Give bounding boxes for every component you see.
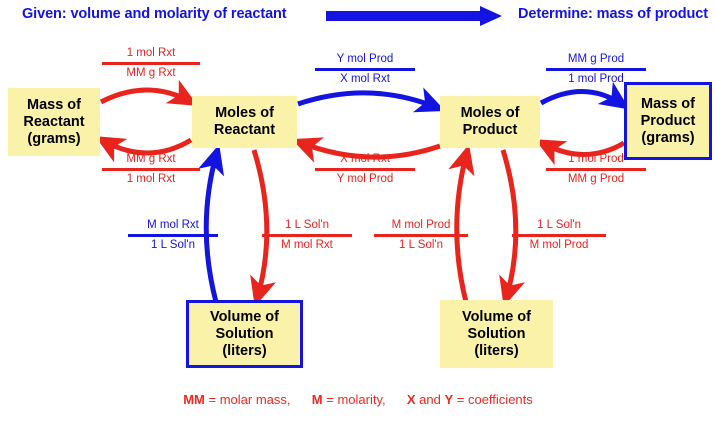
fraction-mass-to-moles-reactant: 1 mol Rxt MM g Rxt — [102, 46, 200, 81]
fraction-numerator: 1 mol Rxt — [102, 46, 200, 62]
node-moles-of-product[interactable]: Moles of Product — [440, 96, 540, 148]
node-line-1: Mass of — [641, 96, 695, 113]
node-volume-of-solution-product[interactable]: Volume of Solution (liters) — [440, 300, 553, 368]
fraction-numerator: 1 L Sol'n — [512, 218, 606, 234]
fraction-reactant-to-product: Y mol Prod X mol Rxt — [315, 52, 415, 87]
node-volume-of-solution-reactant[interactable]: Volume of Solution (liters) — [186, 300, 303, 368]
node-line-2: Product — [641, 113, 696, 130]
header-determine-label: Determine: mass of product — [518, 6, 708, 22]
fraction-numerator: 1 mol Prod — [546, 152, 646, 168]
fraction-numerator: Y mol Prod — [315, 52, 415, 68]
fraction-numerator: X mol Rxt — [315, 152, 415, 168]
arrow-mass-to-moles-reactant — [101, 90, 191, 102]
fraction-denominator: Y mol Prod — [315, 171, 415, 187]
legend-x-symbol: X — [407, 392, 416, 407]
fraction-moles-to-volume-reactant: 1 L Sol'n M mol Rxt — [262, 218, 352, 253]
fraction-numerator: M mol Rxt — [128, 218, 218, 234]
fraction-denominator: 1 mol Rxt — [102, 171, 200, 187]
fraction-moles-to-mass-reactant: MM g Rxt 1 mol Rxt — [102, 152, 200, 187]
node-moles-of-reactant[interactable]: Moles of Reactant — [192, 96, 297, 148]
node-line-2: Reactant — [214, 122, 275, 139]
legend-mm-text: = molar mass, — [209, 392, 291, 407]
legend-and-text: and — [419, 392, 441, 407]
node-line-1: Moles of — [215, 105, 274, 122]
fraction-denominator: 1 mol Prod — [546, 71, 646, 87]
node-line-3: (grams) — [641, 130, 694, 147]
legend-y-symbol: Y — [444, 392, 453, 407]
fraction-denominator: MM g Rxt — [102, 65, 200, 81]
fraction-numerator: 1 L Sol'n — [262, 218, 352, 234]
fraction-mass-to-moles-product: 1 mol Prod MM g Prod — [546, 152, 646, 187]
node-line-1: Mass of — [27, 97, 81, 114]
fraction-product-to-reactant: X mol Rxt Y mol Prod — [315, 152, 415, 187]
fraction-volume-to-moles-product: M mol Prod 1 L Sol'n — [374, 218, 468, 253]
fraction-numerator: MM g Prod — [546, 52, 646, 68]
fraction-denominator: M mol Rxt — [262, 237, 352, 253]
node-mass-of-product[interactable]: Mass of Product (grams) — [624, 82, 712, 160]
node-line-3: (liters) — [222, 343, 266, 360]
diagram-canvas: Given: volume and molarity of reactant — [0, 0, 716, 422]
node-line-1: Moles of — [461, 105, 520, 122]
node-line-2: Product — [463, 122, 518, 139]
node-line-1: Volume of — [210, 309, 279, 326]
legend-m-symbol: M — [312, 392, 323, 407]
fraction-volume-to-moles-reactant: M mol Rxt 1 L Sol'n — [128, 218, 218, 253]
fraction-moles-to-volume-product: 1 L Sol'n M mol Prod — [512, 218, 606, 253]
fraction-moles-to-mass-product: MM g Prod 1 mol Prod — [546, 52, 646, 87]
header-given-label: Given: volume and molarity of reactant — [22, 6, 287, 22]
legend: MM = molar mass, M = molarity, X and Y =… — [0, 392, 716, 407]
legend-coef-text: = coefficients — [457, 392, 533, 407]
fraction-denominator: X mol Rxt — [315, 71, 415, 87]
node-line-3: (liters) — [474, 343, 518, 360]
legend-mm-symbol: MM — [183, 392, 205, 407]
arrow-moles-reactant-to-product — [298, 93, 438, 108]
fraction-denominator: 1 L Sol'n — [128, 237, 218, 253]
fraction-numerator: M mol Prod — [374, 218, 468, 234]
arrow-moles-to-mass-product — [541, 91, 623, 105]
node-line-2: Reactant — [23, 114, 84, 131]
fraction-denominator: 1 L Sol'n — [374, 237, 468, 253]
node-line-3: (grams) — [27, 131, 80, 148]
node-line-2: Solution — [468, 326, 526, 343]
legend-m-text: = molarity, — [326, 392, 385, 407]
fraction-denominator: MM g Prod — [546, 171, 646, 187]
node-line-2: Solution — [216, 326, 274, 343]
node-mass-of-reactant[interactable]: Mass of Reactant (grams) — [8, 88, 100, 156]
fraction-denominator: M mol Prod — [512, 237, 606, 253]
node-line-1: Volume of — [462, 309, 531, 326]
header-right-arrow-icon — [326, 6, 502, 26]
fraction-numerator: MM g Rxt — [102, 152, 200, 168]
